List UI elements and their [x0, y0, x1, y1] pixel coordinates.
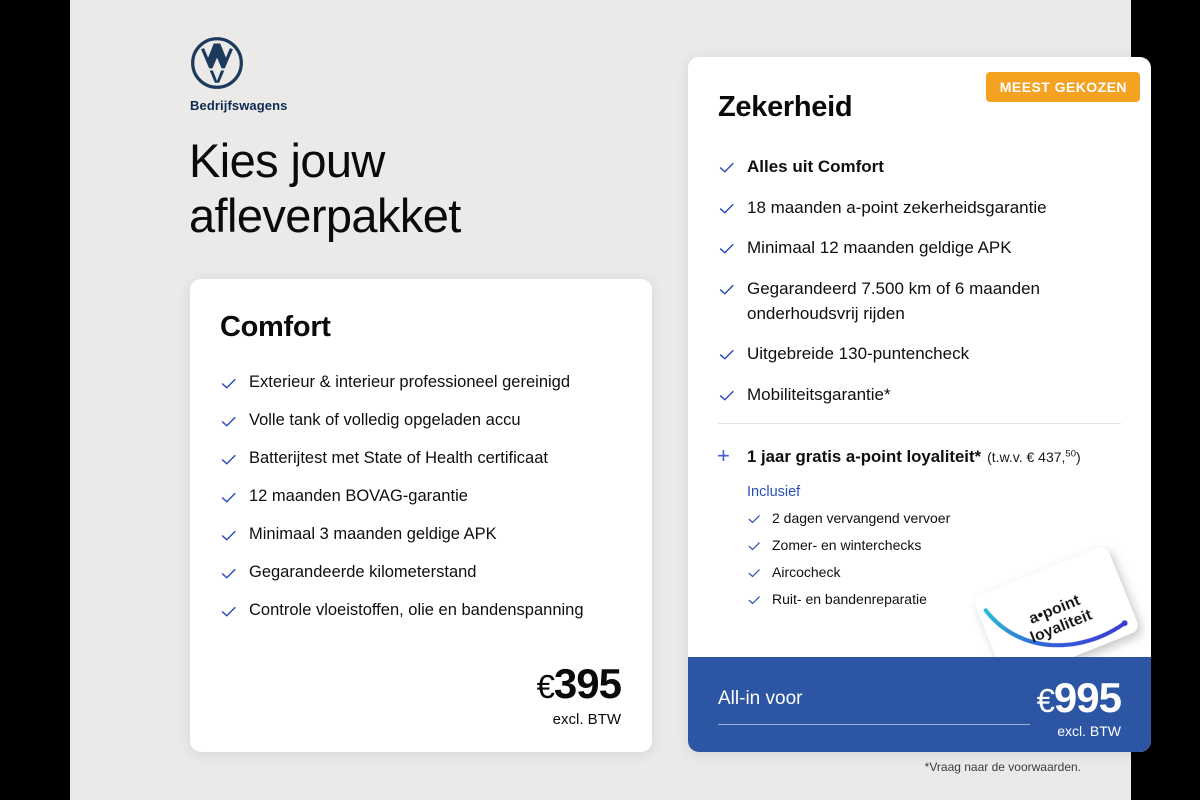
- page-title: Kies jouwafleverpakket: [189, 133, 619, 244]
- loyalty-item-label: 2 dagen vervangend vervoer: [772, 510, 950, 526]
- check-icon: [220, 375, 237, 392]
- feature-item: Gegarandeerd 7.500 km of 6 maanden onder…: [718, 277, 1123, 326]
- price-note-zekerheid: excl. BTW: [1037, 723, 1121, 739]
- loyalty-heading: + 1 jaar gratis a-point loyaliteit*(t.w.…: [718, 446, 1121, 468]
- check-icon: [220, 413, 237, 430]
- feature-label: 12 maanden BOVAG-garantie: [249, 487, 468, 505]
- feature-label: Batterijtest met State of Health certifi…: [249, 449, 548, 467]
- loyalty-card-line2: loyaliteit: [1028, 606, 1095, 646]
- feature-item: Minimaal 3 maanden geldige APK: [220, 523, 622, 547]
- check-icon: [747, 593, 761, 607]
- check-icon: [220, 489, 237, 506]
- feature-label: Minimaal 12 maanden geldige APK: [747, 238, 1012, 257]
- check-icon: [718, 240, 735, 257]
- footnote-text: *Vraag naar de voorwaarden.: [925, 760, 1081, 774]
- loyalty-item-label: Ruit- en bandenreparatie: [772, 591, 927, 607]
- check-icon: [718, 159, 735, 176]
- check-icon: [718, 281, 735, 298]
- feature-label: Controle vloeistoffen, olie en bandenspa…: [249, 601, 584, 619]
- allin-price-bar: All-in voor €995 excl. BTW: [688, 657, 1151, 752]
- feature-item: 18 maanden a-point zekerheidsgarantie: [718, 196, 1123, 221]
- feature-list-comfort: Exterieur & interieur professioneel gere…: [220, 371, 622, 622]
- feature-label: Uitgebreide 130-puntencheck: [747, 344, 969, 363]
- check-icon: [220, 451, 237, 468]
- price-value: 395: [554, 660, 621, 707]
- feature-label: Volle tank of volledig opgeladen accu: [249, 411, 521, 429]
- vw-roundel-icon: [190, 36, 244, 90]
- feature-label: Minimaal 3 maanden geldige APK: [249, 525, 497, 543]
- plus-icon: +: [717, 445, 730, 467]
- currency-symbol: €: [537, 668, 554, 705]
- loyalty-item-list: 2 dagen vervangend vervoerZomer- en wint…: [747, 509, 1121, 609]
- feature-item: Gegarandeerde kilometerstand: [220, 561, 622, 585]
- feature-item: 12 maanden BOVAG-garantie: [220, 485, 622, 509]
- feature-item: Alles uit Comfort: [718, 155, 1123, 180]
- status-badge: MEEST GEKOZEN: [986, 72, 1140, 102]
- price-amount-zekerheid: €995: [1037, 677, 1121, 719]
- allin-rule: [718, 724, 1030, 725]
- letterbox-left: [0, 0, 70, 800]
- loyalty-title: 1 jaar gratis a-point loyaliteit*: [747, 447, 981, 466]
- brand-block: Bedrijfswagens: [190, 36, 430, 113]
- loyalty-value-cents: 50: [1065, 449, 1076, 460]
- check-icon: [718, 387, 735, 404]
- price-block-comfort: €395 excl. BTW: [537, 663, 621, 728]
- slide-canvas: Bedrijfswagens Kies jouwafleverpakket Co…: [0, 0, 1200, 800]
- feature-label: Gegarandeerde kilometerstand: [249, 563, 476, 581]
- feature-item: Exterieur & interieur professioneel gere…: [220, 371, 622, 395]
- check-icon: [747, 512, 761, 526]
- feature-label: Alles uit Comfort: [747, 157, 884, 176]
- loyalty-item: Aircocheck: [747, 563, 1121, 582]
- check-icon: [747, 566, 761, 580]
- feature-label: Exterieur & interieur professioneel gere…: [249, 373, 570, 391]
- check-icon: [220, 565, 237, 582]
- feature-list-zekerheid: Alles uit Comfort18 maanden a-point zeke…: [718, 155, 1123, 407]
- package-card-comfort[interactable]: Comfort Exterieur & interieur profession…: [190, 279, 652, 752]
- price-block-zekerheid: €995 excl. BTW: [1037, 677, 1121, 739]
- loyalty-value: (t.w.v. € 437,50): [987, 449, 1081, 465]
- feature-item: Uitgebreide 130-puntencheck: [718, 342, 1123, 367]
- feature-item: Batterijtest met State of Health certifi…: [220, 447, 622, 471]
- allin-label: All-in voor: [718, 688, 802, 710]
- feature-item: Volle tank of volledig opgeladen accu: [220, 409, 622, 433]
- package-card-zekerheid[interactable]: MEEST GEKOZEN Zekerheid Alles uit Comfor…: [688, 57, 1151, 752]
- loyalty-item-label: Zomer- en winterchecks: [772, 537, 921, 553]
- inclusief-label: Inclusief: [747, 484, 1121, 500]
- price-amount-comfort: €395: [537, 663, 621, 705]
- loyalty-section: + 1 jaar gratis a-point loyaliteit*(t.w.…: [718, 446, 1121, 608]
- check-icon: [747, 539, 761, 553]
- check-icon: [718, 346, 735, 363]
- loyalty-item: Zomer- en winterchecks: [747, 536, 1121, 555]
- price-note-comfort: excl. BTW: [537, 711, 621, 728]
- check-icon: [220, 527, 237, 544]
- price-value: 995: [1054, 674, 1121, 721]
- loyalty-item-label: Aircocheck: [772, 564, 840, 580]
- feature-label: 18 maanden a-point zekerheidsgarantie: [747, 198, 1047, 217]
- feature-item: Minimaal 12 maanden geldige APK: [718, 236, 1123, 261]
- section-divider: [718, 423, 1121, 424]
- feature-label: Mobiliteitsgarantie*: [747, 385, 891, 404]
- check-icon: [718, 200, 735, 217]
- check-icon: [220, 603, 237, 620]
- loyalty-item: 2 dagen vervangend vervoer: [747, 509, 1121, 528]
- content-area: Bedrijfswagens Kies jouwafleverpakket Co…: [70, 0, 1131, 800]
- brand-wordmark: Bedrijfswagens: [190, 98, 430, 113]
- loyalty-item: Ruit- en bandenreparatie: [747, 590, 1121, 609]
- feature-item: Controle vloeistoffen, olie en bandenspa…: [220, 599, 622, 623]
- card-title-comfort: Comfort: [220, 311, 652, 344]
- feature-label: Gegarandeerd 7.500 km of 6 maanden onder…: [747, 279, 1040, 323]
- feature-item: Mobiliteitsgarantie*: [718, 383, 1123, 408]
- currency-symbol: €: [1037, 682, 1054, 719]
